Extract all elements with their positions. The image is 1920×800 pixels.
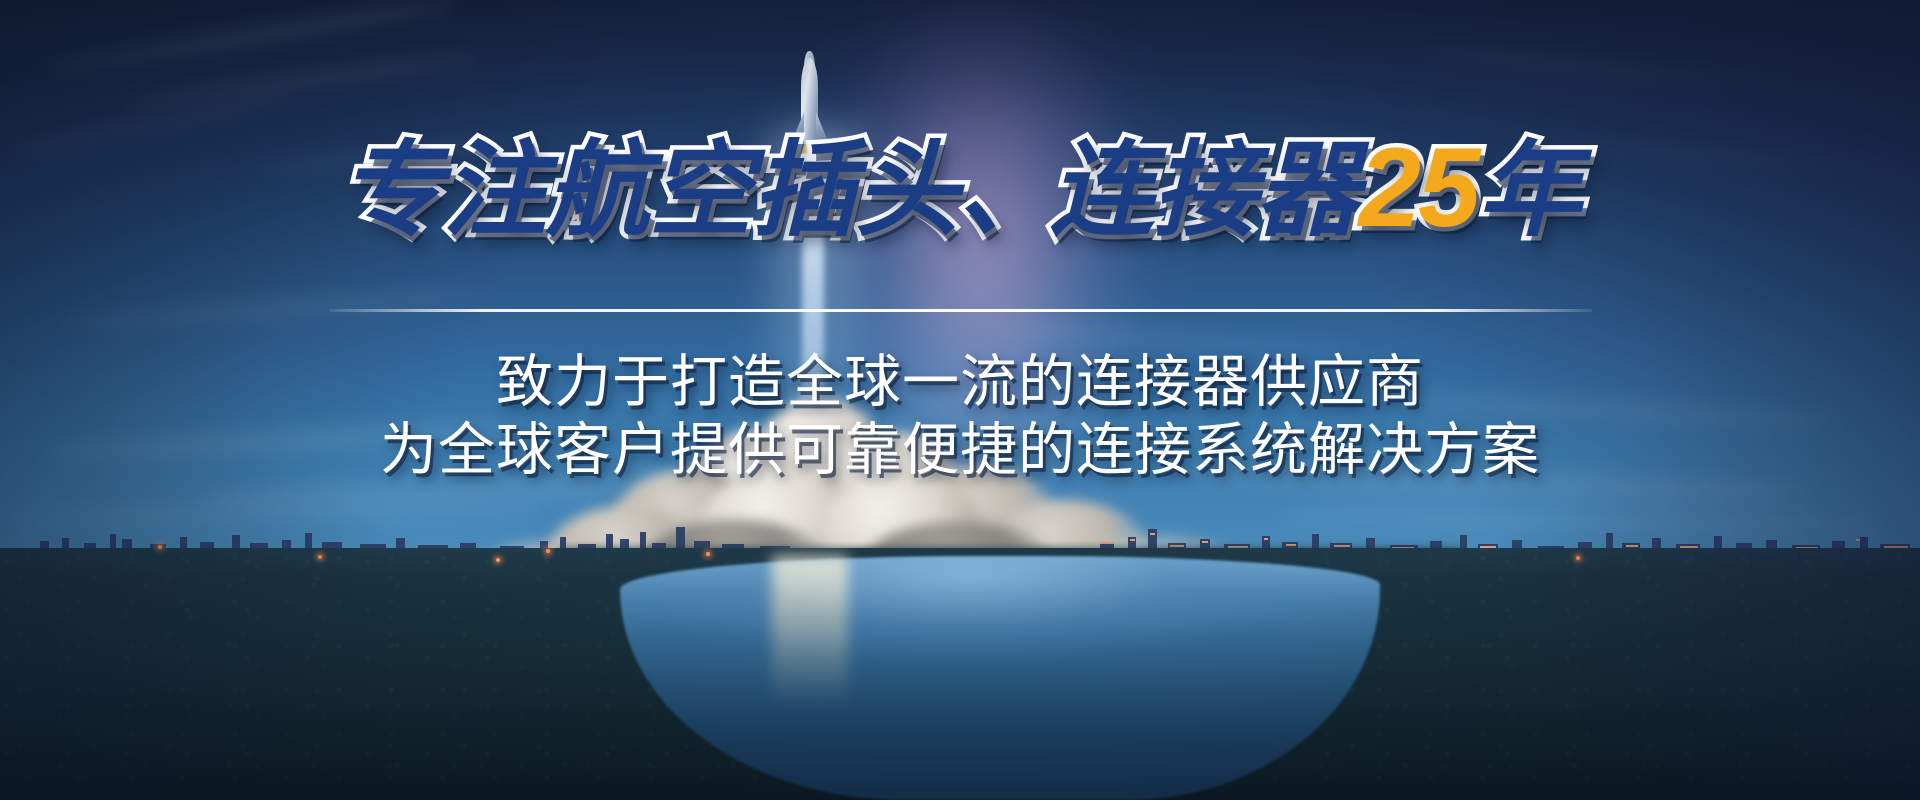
ground-light <box>496 558 500 562</box>
ground-light <box>706 552 710 556</box>
headline-part2: 连接器 <box>1050 133 1359 249</box>
headline-years-unit: 年 <box>1477 133 1580 249</box>
headline-punctuation: 、 <box>958 133 1050 249</box>
subtitle-line-1: 致力于打造全球一流的连接器供应商 <box>0 352 1920 414</box>
ground-light <box>318 555 322 559</box>
ground-light <box>546 549 550 553</box>
headline-part1: 专注航空插头 <box>340 133 958 249</box>
forest-land <box>0 548 1920 800</box>
hero-banner: 专注航空插头、连接器25年 致力于打造全球一流的连接器供应商 为全球客户提供可靠… <box>0 0 1920 800</box>
headline-years-number: 25 <box>1359 125 1478 250</box>
headline: 专注航空插头、连接器25年 <box>0 132 1920 244</box>
ground-light <box>158 545 162 549</box>
forest-texture <box>0 548 1920 800</box>
ground-light <box>1576 556 1580 560</box>
subtitle-line-2: 为全球客户提供可靠便捷的连接系统解决方案 <box>0 420 1920 482</box>
